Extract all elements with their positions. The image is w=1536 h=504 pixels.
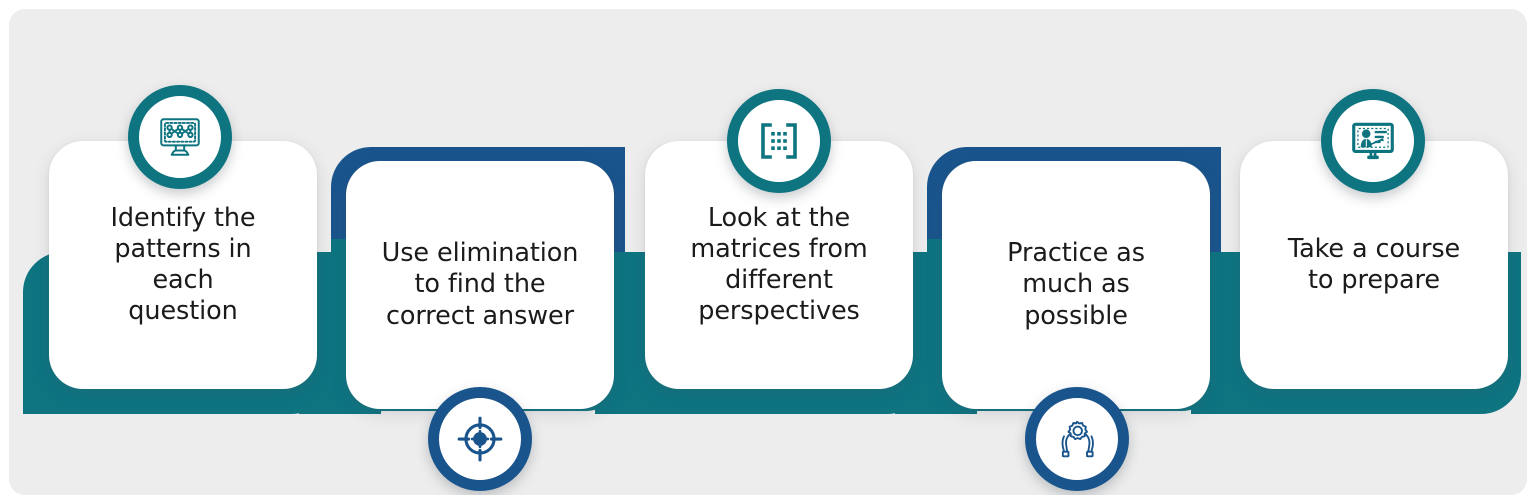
matrix-brackets-icon — [755, 117, 803, 165]
hands-gear-icon — [1052, 414, 1102, 464]
presentation-board-icon — [1348, 116, 1398, 166]
step-card-2[interactable]: Use elimination to find the correct answ… — [346, 161, 614, 409]
target-crosshair-icon — [455, 414, 505, 464]
step-icon-badge-3[interactable] — [727, 89, 831, 193]
infographic-canvas: Identify the patterns in each question U… — [0, 0, 1536, 504]
step-icon-badge-5[interactable] — [1321, 89, 1425, 193]
step-card-4-text: Practice as much as possible — [1007, 238, 1145, 331]
step-icon-badge-1[interactable] — [128, 85, 232, 189]
computer-network-icon — [155, 112, 205, 162]
step-card-1-text: Identify the patterns in each question — [110, 203, 255, 327]
step-card-4[interactable]: Practice as much as possible — [942, 161, 1210, 409]
step-icon-badge-4[interactable] — [1025, 387, 1129, 491]
step-card-3-text: Look at the matrices from different pers… — [690, 203, 867, 327]
infographic-stage: Identify the patterns in each question U… — [9, 9, 1527, 495]
step-card-5-text: Take a course to prepare — [1288, 234, 1460, 296]
step-card-2-text: Use elimination to find the correct answ… — [382, 238, 579, 331]
step-icon-badge-2[interactable] — [428, 387, 532, 491]
